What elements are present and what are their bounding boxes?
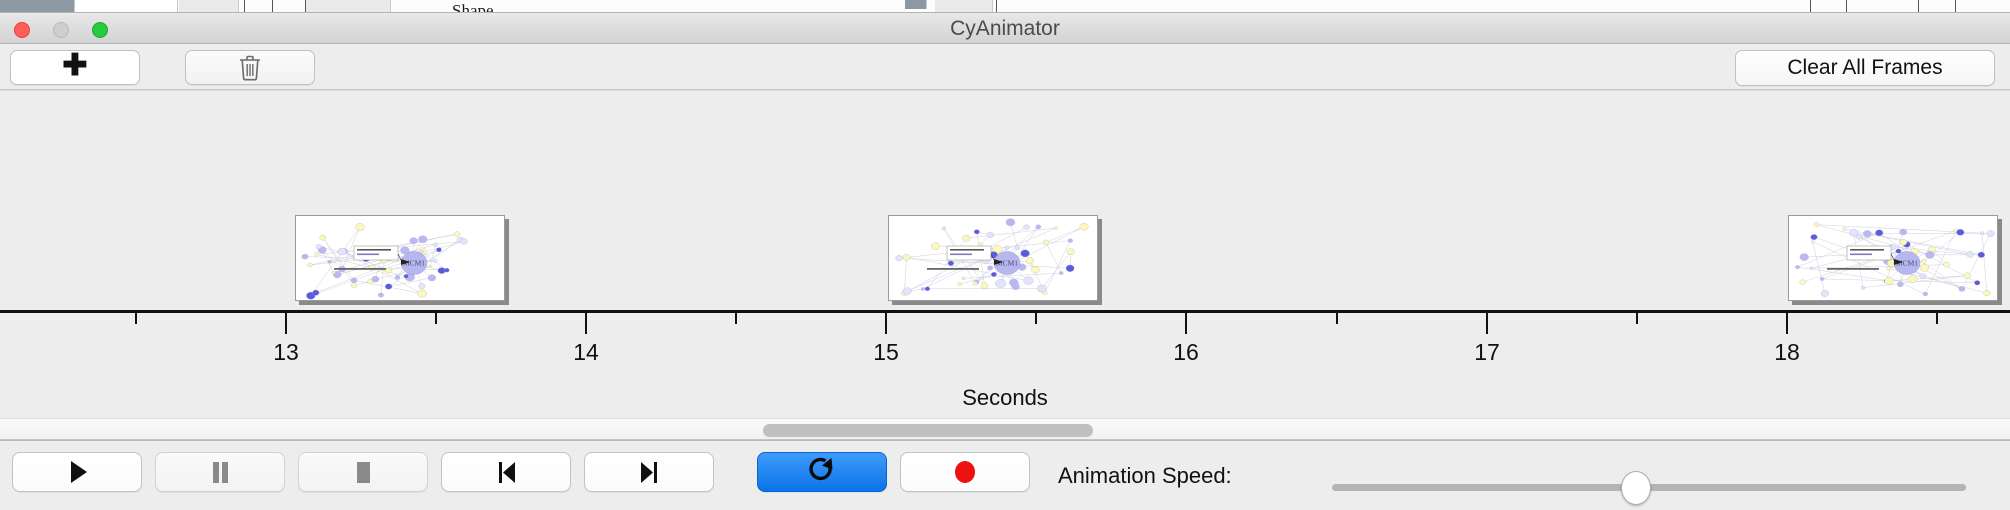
tick-label-18: 18 bbox=[1774, 339, 1800, 366]
title-bar[interactable]: CyAnimator bbox=[0, 13, 2010, 44]
skip-to-end-icon bbox=[635, 457, 663, 487]
tick-minor-5 bbox=[1636, 313, 1638, 324]
record-button[interactable] bbox=[900, 452, 1030, 492]
bg-segment-b bbox=[179, 0, 239, 13]
tick-major-15 bbox=[885, 313, 887, 334]
tick-label-16: 16 bbox=[1173, 339, 1199, 366]
stop-icon bbox=[349, 457, 377, 487]
bg-segment-marker bbox=[905, 0, 927, 9]
network-thumbnail: MCM1 bbox=[1789, 216, 1998, 301]
tick-minor-4 bbox=[1336, 313, 1338, 324]
bg-window-label: Shape bbox=[452, 1, 494, 13]
bg-divider-1 bbox=[244, 0, 245, 13]
bg-segment-a bbox=[76, 0, 178, 13]
tick-minor-3 bbox=[1035, 313, 1037, 324]
tick-major-13 bbox=[285, 313, 287, 334]
stop-button[interactable] bbox=[298, 452, 428, 492]
timeline-scrollbar-thumb[interactable] bbox=[763, 424, 1093, 437]
frame-toolbar: ✚ Clear All Frames bbox=[0, 44, 2010, 90]
bg-divider-7 bbox=[1918, 0, 1919, 13]
bg-divider-8 bbox=[1955, 0, 1956, 13]
bg-segment-c bbox=[306, 0, 391, 13]
tick-label-14: 14 bbox=[573, 339, 599, 366]
record-icon bbox=[950, 457, 980, 487]
plus-icon: ✚ bbox=[62, 51, 87, 81]
animation-speed-slider-thumb[interactable] bbox=[1621, 471, 1651, 505]
window-title: CyAnimator bbox=[0, 13, 2010, 44]
tick-minor-0 bbox=[135, 313, 137, 324]
first-frame-button[interactable] bbox=[441, 452, 571, 492]
timeline-frame-3[interactable]: MCM1 bbox=[1788, 215, 1998, 301]
timeline-frame-1[interactable]: MCM1 bbox=[295, 215, 505, 301]
timeline-ruler bbox=[0, 310, 2010, 313]
clear-all-frames-button[interactable]: Clear All Frames bbox=[1735, 50, 1995, 86]
delete-frame-button[interactable] bbox=[185, 50, 315, 85]
play-icon bbox=[63, 457, 91, 487]
tick-minor-2 bbox=[735, 313, 737, 324]
tick-major-14 bbox=[585, 313, 587, 334]
tick-minor-1 bbox=[435, 313, 437, 324]
network-thumbnail: MCM1 bbox=[889, 216, 1098, 301]
pause-icon bbox=[206, 457, 234, 487]
loop-icon bbox=[807, 456, 837, 488]
clear-all-frames-label: Clear All Frames bbox=[1787, 56, 1942, 80]
tick-major-16 bbox=[1185, 313, 1187, 334]
playback-control-bar: Animation Speed: bbox=[0, 440, 2010, 510]
cyanimator-window: Shape CyAnimator ✚ Clear All Frames bbox=[0, 0, 2010, 510]
tick-major-18 bbox=[1786, 313, 1788, 334]
pause-button[interactable] bbox=[155, 452, 285, 492]
tick-label-17: 17 bbox=[1474, 339, 1500, 366]
tick-label-15: 15 bbox=[873, 339, 899, 366]
timeline-panel[interactable]: MCM1 MCM1 MCM1 12131415161718 Seconds bbox=[0, 90, 2010, 411]
play-button[interactable] bbox=[12, 452, 142, 492]
bg-segment-dark bbox=[0, 0, 75, 13]
loop-button[interactable] bbox=[757, 452, 887, 492]
bg-divider-6 bbox=[1846, 0, 1847, 13]
timeline-axis-title: Seconds bbox=[0, 385, 2010, 411]
tick-minor-6 bbox=[1936, 313, 1938, 324]
timeline-scrollbar[interactable] bbox=[0, 418, 2010, 440]
network-thumbnail: MCM1 bbox=[296, 216, 505, 301]
last-frame-button[interactable] bbox=[584, 452, 714, 492]
add-frame-button[interactable]: ✚ bbox=[10, 50, 140, 85]
bg-divider-2 bbox=[272, 0, 273, 13]
bg-divider-5 bbox=[1810, 0, 1811, 13]
tick-label-13: 13 bbox=[273, 339, 299, 366]
animation-speed-label: Animation Speed: bbox=[1058, 463, 1232, 489]
bg-divider-4 bbox=[996, 0, 997, 13]
tick-major-17 bbox=[1486, 313, 1488, 334]
bg-segment-d bbox=[935, 0, 993, 13]
background-window-strip: Shape bbox=[0, 0, 2010, 13]
timeline-frame-2[interactable]: MCM1 bbox=[888, 215, 1098, 301]
trash-icon bbox=[237, 54, 263, 82]
skip-to-start-icon bbox=[492, 457, 520, 487]
